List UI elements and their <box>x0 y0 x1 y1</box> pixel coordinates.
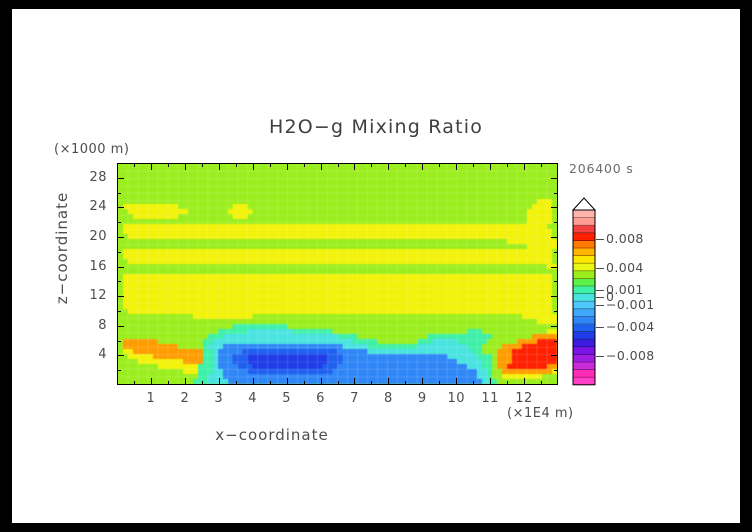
page-title: H2O−g Mixing Ratio <box>12 116 740 138</box>
colorbar-tick-label: 0.008 <box>606 231 644 246</box>
x-tick-label: 1 <box>136 391 166 406</box>
y-tick-label: 4 <box>67 347 107 362</box>
y-tick-label: 16 <box>67 259 107 274</box>
x-tick-label: 11 <box>475 391 505 406</box>
colorbar[interactable]: 0.0080.0040.0010−0.001−0.004−0.008 <box>570 196 598 391</box>
colorbar-tick-label: −0.001 <box>606 297 655 312</box>
colorbar-tick-mark <box>596 297 604 298</box>
x-axis-unit-label: (×1E4 m) <box>507 406 574 421</box>
colorbar-tick-mark <box>596 305 604 306</box>
x-tick-label: 9 <box>407 391 437 406</box>
colorbar-tick-label: −0.004 <box>606 319 655 334</box>
y-tick-label: 24 <box>67 199 107 214</box>
x-tick-label: 4 <box>238 391 268 406</box>
x-tick-label: 10 <box>441 391 471 406</box>
x-tick-label: 7 <box>339 391 369 406</box>
y-tick-label: 8 <box>67 318 107 333</box>
x-axis-title: x−coordinate <box>12 426 532 444</box>
colorbar-tick-mark <box>596 239 604 240</box>
colorbar-tick-mark <box>596 268 604 269</box>
x-tick-label: 6 <box>306 391 336 406</box>
colorbar-tick-label: 0.004 <box>606 260 644 275</box>
y-axis-title: z−coordinate <box>53 168 71 328</box>
contour-plot-area[interactable] <box>117 163 558 385</box>
y-tick-label: 12 <box>67 288 107 303</box>
y-tick-label: 20 <box>67 229 107 244</box>
contour-field <box>118 164 557 384</box>
x-tick-label: 5 <box>272 391 302 406</box>
plot-paper: H2O−g Mixing Ratio (×1000 m) 206400 s 48… <box>12 9 740 523</box>
colorbar-tick-label: −0.008 <box>606 348 655 363</box>
x-tick-label: 8 <box>373 391 403 406</box>
x-tick-label: 3 <box>204 391 234 406</box>
y-axis-unit-label: (×1000 m) <box>54 142 129 157</box>
figure-canvas: H2O−g Mixing Ratio (×1000 m) 206400 s 48… <box>0 0 752 532</box>
colorbar-tick-mark <box>596 356 604 357</box>
timestamp-label: 206400 s <box>569 161 634 176</box>
colorbar-tick-mark <box>596 327 604 328</box>
y-tick-label: 28 <box>67 170 107 185</box>
colorbar-tick-mark <box>596 290 604 291</box>
x-tick-label: 12 <box>509 391 539 406</box>
x-tick-label: 2 <box>170 391 200 406</box>
